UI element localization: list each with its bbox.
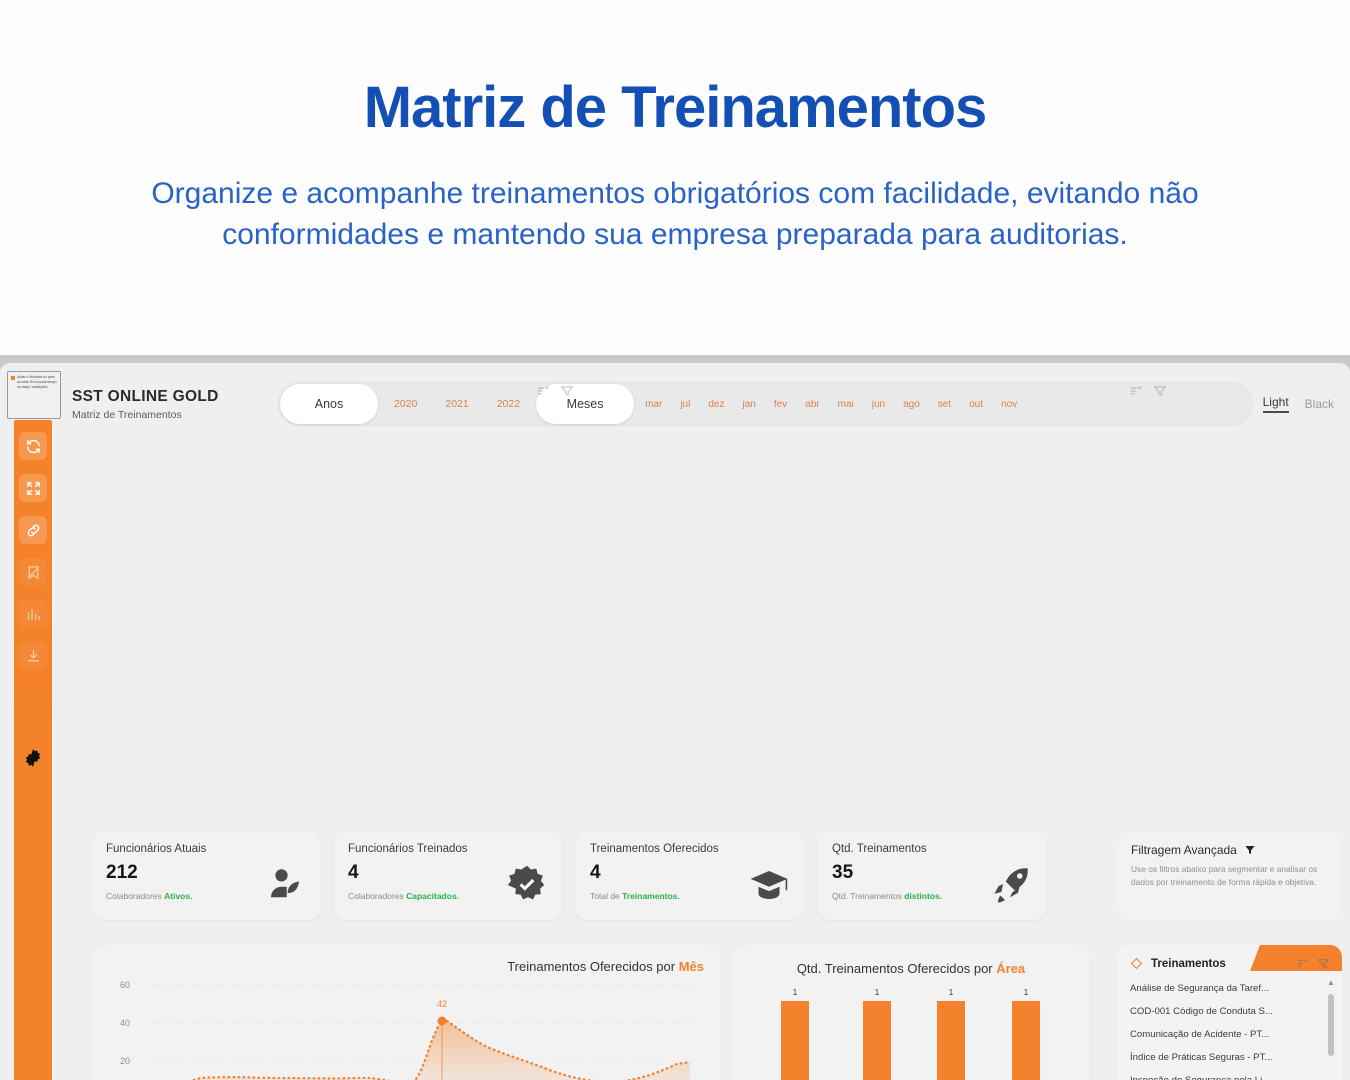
page-subtitle: Organize e acompanhe treinamentos obriga… [145, 173, 1205, 256]
rocket-icon [990, 864, 1032, 906]
years-pill[interactable]: Anos [280, 384, 378, 424]
advanced-filter-label: Filtragem Avançada [1131, 843, 1237, 857]
list-item[interactable]: COD-001 Código de Conduta S... [1130, 1000, 1330, 1023]
month-chip[interactable]: mai [829, 399, 863, 410]
svg-text:1: 1 [793, 987, 798, 997]
brand-title: SST ONLINE GOLD [72, 388, 270, 406]
kpi-title: Funcionários Treinados [348, 843, 548, 855]
scrollbar-thumb[interactable] [1328, 994, 1334, 1056]
month-chip[interactable]: abr [796, 399, 828, 410]
chart-icon[interactable] [19, 600, 47, 628]
dashboard-canvas: Ativar o Windows do para as edita Tem cu… [0, 363, 1350, 1080]
dashboard-screenshot: Ativar o Windows do para as edita Tem cu… [0, 355, 1350, 1080]
clear-filter-icon [560, 384, 574, 398]
month-chip[interactable]: dez [699, 399, 733, 410]
month-chip[interactable]: jun [863, 399, 894, 410]
theme-black-button[interactable]: Black [1305, 397, 1334, 411]
kpi-card-qtd-treinamentos[interactable]: Qtd. Treinamentos 35 Qtd. Treinamentos d… [818, 832, 1046, 920]
list-item[interactable]: Inspeção de Segurança pela Li... [1130, 1069, 1330, 1080]
svg-text:1: 1 [875, 987, 880, 997]
theme-light-button[interactable]: Light [1263, 395, 1289, 413]
list-item[interactable]: Índice de Práticas Seguras - PT... [1130, 1046, 1330, 1069]
kpi-title: Treinamentos Oferecidos [590, 843, 790, 855]
month-chip[interactable]: out [960, 399, 992, 410]
month-filter-icons[interactable] [1129, 384, 1167, 398]
svg-text:40: 40 [120, 1018, 130, 1028]
year-chip[interactable]: 2021 [431, 398, 482, 410]
brand-subtitle: Matriz de Treinamentos [72, 409, 270, 421]
filter-bar[interactable]: Anos 2020 2021 2022 Meses mar jul dez ja… [278, 382, 1253, 426]
advanced-filter-body: Use os filtros abaixo para segmentar e a… [1131, 863, 1329, 889]
year-chips[interactable]: 2020 2021 2022 [380, 398, 534, 410]
windows-activation-tooltip: Ativar o Windows do para as edita Tem cu… [7, 371, 61, 419]
funnel-icon [1244, 844, 1256, 856]
year-chip[interactable]: 2022 [483, 398, 534, 410]
scroll-up-icon[interactable]: ▲ [1327, 979, 1335, 987]
treinamentos-list[interactable]: Análise de Segurança da Taref... COD-001… [1118, 970, 1342, 1080]
month-chip[interactable]: mar [636, 399, 671, 410]
line-chart-svg: 60 40 20 0 42 jan fev mar abr mai jun ju… [92, 945, 720, 1080]
kpi-title: Qtd. Treinamentos [832, 843, 1032, 855]
theme-switcher[interactable]: Light Black [1263, 395, 1340, 413]
list-item[interactable]: Comunicação de Acidente - PT... [1130, 1023, 1330, 1046]
kpi-card-funcionarios-atuais[interactable]: Funcionários Atuais 212 Colaboradores At… [92, 832, 320, 920]
link-icon[interactable] [19, 516, 47, 544]
kpi-title: Funcionários Atuais [106, 843, 306, 855]
month-chip[interactable]: ago [894, 399, 929, 410]
svg-text:1: 1 [949, 987, 954, 997]
month-chips[interactable]: mar jul dez jan fev abr mai jun ago set … [636, 399, 1026, 410]
bookmark-icon[interactable] [19, 558, 47, 586]
tooltip-text: Ativar o Windows do para as edita Tem cu… [17, 375, 57, 389]
export-icon[interactable] [19, 642, 47, 670]
bar-chart-svg: 1 1 1 1 Operação Comercial SAC SSO [732, 945, 1090, 1080]
refresh-icon[interactable] [19, 432, 47, 460]
hero-section: Matriz de Treinamentos Organize e acompa… [0, 0, 1350, 355]
list-scrollbar[interactable]: ▲ ▼ [1326, 979, 1336, 1080]
left-toolbar[interactable] [14, 420, 52, 1080]
clear-filter-icon [1317, 957, 1330, 970]
year-filter-icons[interactable] [536, 384, 574, 398]
clear-filter-icon [1153, 384, 1167, 398]
treinamentos-panel-header: Treinamentos [1118, 945, 1342, 970]
scrollbar-track[interactable] [1328, 990, 1334, 1080]
sort-filter-icon [1296, 957, 1309, 970]
svg-text:20: 20 [120, 1056, 130, 1066]
treinamentos-panel-title: Treinamentos [1151, 958, 1288, 970]
gear-icon[interactable] [19, 744, 47, 772]
dashboard-header: SST ONLINE GOLD Matriz de Treinamentos A… [60, 373, 1340, 435]
page-title: Matriz de Treinamentos [364, 78, 987, 139]
person-leaf-icon [264, 864, 306, 906]
advanced-filter-card: Filtragem Avançada Use os filtros abaixo… [1118, 832, 1342, 920]
expand-icon[interactable] [19, 474, 47, 502]
month-chip[interactable]: jan [733, 399, 764, 410]
month-chip[interactable]: nov [992, 399, 1026, 410]
year-chip[interactable]: 2020 [380, 398, 431, 410]
kpi-card-treinamentos-oferecidos[interactable]: Treinamentos Oferecidos 4 Total de Trein… [576, 832, 804, 920]
kpi-row: Funcionários Atuais 212 Colaboradores At… [92, 832, 1046, 920]
kpi-card-funcionarios-treinados[interactable]: Funcionários Treinados 4 Colaboradores C… [334, 832, 562, 920]
month-chip[interactable]: fev [765, 399, 796, 410]
verified-check-icon [506, 864, 548, 906]
month-chip[interactable]: set [929, 399, 960, 410]
list-item[interactable]: Análise de Segurança da Taref... [1130, 977, 1330, 1000]
treinamentos-panel[interactable]: Treinamentos Análise de Segurança da Tar… [1118, 945, 1342, 1080]
sort-filter-icon [536, 384, 550, 398]
graduation-cap-icon [748, 864, 790, 906]
chart-card-line-months: Treinamentos Oferecidos por Mês 60 40 20… [92, 945, 720, 1080]
advanced-filter-title: Filtragem Avançada [1131, 843, 1329, 857]
chart-card-bar-area: Qtd. Treinamentos Oferecidos por Área 1 … [732, 945, 1090, 1080]
tooltip-marker [11, 376, 15, 380]
brand: SST ONLINE GOLD Matriz de Treinamentos [60, 388, 270, 421]
svg-text:60: 60 [120, 980, 130, 990]
line-peak-label: 42 [437, 999, 447, 1009]
diamond-icon [1130, 957, 1143, 970]
svg-text:1: 1 [1024, 987, 1029, 997]
month-chip[interactable]: jul [671, 399, 699, 410]
sort-filter-icon [1129, 384, 1143, 398]
